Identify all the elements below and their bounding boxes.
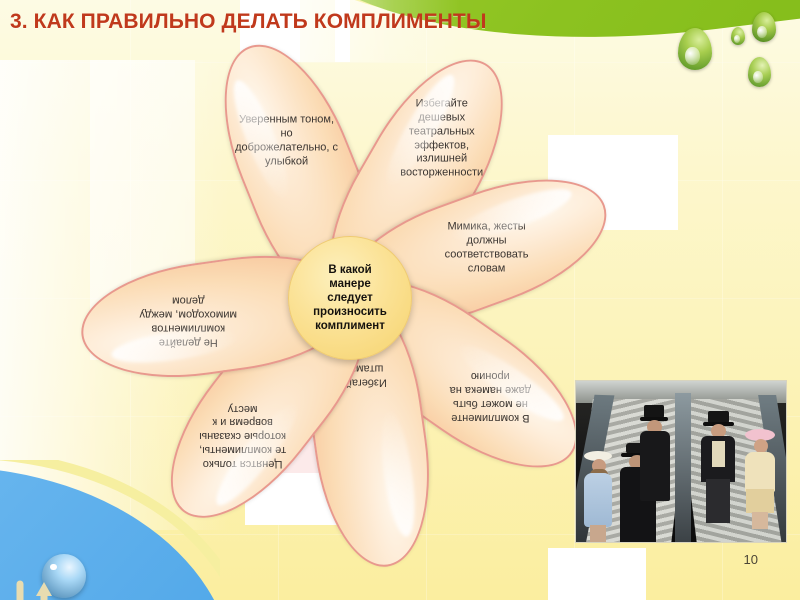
petal-label: В комплименте не может быть даже намека … <box>415 369 565 424</box>
page-title: 3. КАК ПРАВИЛЬНО ДЕЛАТЬ КОМПЛИМЕНТЫ <box>10 10 487 34</box>
petal-label: Не делайте комплиментов мимоходом, между… <box>113 293 263 348</box>
curved-arrow-icon <box>14 580 60 600</box>
photo-handrail <box>675 393 691 543</box>
water-drop-icon <box>731 27 745 45</box>
petal-diagram: Уверенным тоном, но доброжелательно, с у… <box>60 78 640 518</box>
diagram-center-label: В какой манере следует произносить компл… <box>307 263 393 333</box>
diagram-center[interactable]: В какой манере следует произносить компл… <box>288 236 412 360</box>
petal-label: Мимика, жесты должны соответствовать сло… <box>412 221 562 276</box>
page-number: 10 <box>744 552 758 567</box>
water-drop-icon <box>678 28 712 70</box>
slide: 3. КАК ПРАВИЛЬНО ДЕЛАТЬ КОМПЛИМЕНТЫ Увер… <box>0 0 800 600</box>
corner-yellow-band <box>0 460 220 600</box>
petal-label: Уверенным тоном, но доброжелательно, с у… <box>212 113 362 168</box>
water-drop-icon <box>752 12 776 42</box>
photo-person <box>638 405 674 501</box>
photo-person <box>698 411 740 523</box>
corner-decoration <box>0 460 220 600</box>
photo-person <box>741 429 781 529</box>
petal-label: Избегайте дешевых театральных эффектов, … <box>367 98 517 181</box>
escalator-photo <box>575 380 787 543</box>
photo-person <box>580 451 618 543</box>
water-drop-icon <box>748 57 771 87</box>
